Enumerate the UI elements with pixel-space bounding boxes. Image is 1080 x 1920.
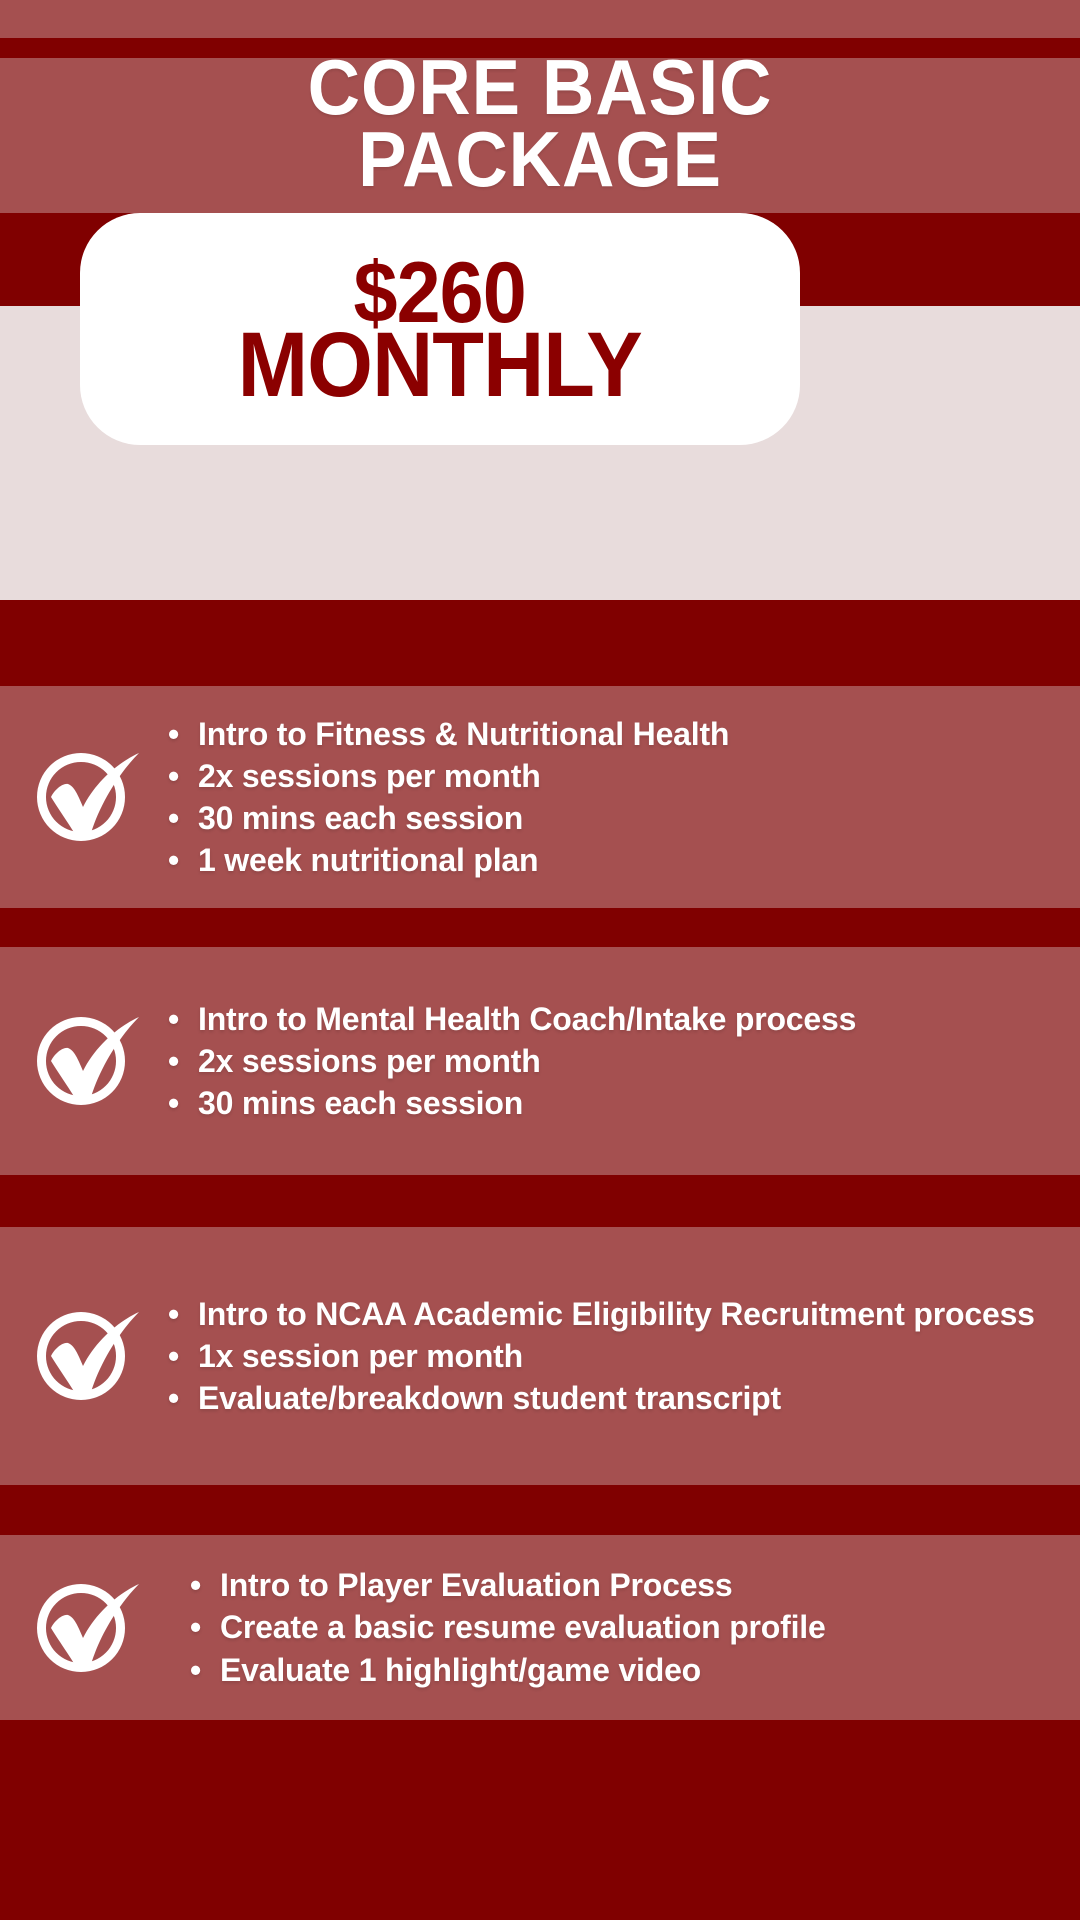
divider-band-3 — [0, 1485, 1080, 1535]
list-item: 30 mins each session — [168, 1082, 1060, 1124]
check-icon-column — [0, 1572, 168, 1684]
feature-block: Intro to NCAA Academic Eligibility Recru… — [0, 1227, 1080, 1485]
list-item: 2x sessions per month — [168, 755, 1060, 797]
price-period: MONTHLY — [238, 325, 642, 406]
pricing-poster: CORE BASIC PACKAGE $260 MONTHLY Intro to… — [0, 0, 1080, 1920]
top-muted-strip — [0, 0, 1080, 38]
check-icon-column — [0, 741, 168, 853]
list-item: Evaluate/breakdown student transcript — [168, 1377, 1060, 1419]
list-item: Intro to Player Evaluation Process — [190, 1564, 1060, 1606]
list-item: 1 week nutritional plan — [168, 839, 1060, 881]
price-card: $260 MONTHLY — [80, 213, 800, 445]
page-title: CORE BASIC PACKAGE — [38, 52, 1042, 196]
divider-band-0 — [0, 600, 1080, 686]
feature-bullet-list: Intro to NCAA Academic Eligibility Recru… — [168, 1293, 1080, 1420]
check-circle-icon — [25, 1572, 143, 1684]
bottom-band — [0, 1720, 1080, 1920]
list-item: Intro to Fitness & Nutritional Health — [168, 713, 1060, 755]
list-item: Intro to NCAA Academic Eligibility Recru… — [168, 1293, 1060, 1335]
list-item: Intro to Mental Health Coach/Intake proc… — [168, 998, 1060, 1040]
list-item: 1x session per month — [168, 1335, 1060, 1377]
feature-bullet-list: Intro to Player Evaluation Process Creat… — [168, 1564, 1080, 1691]
list-item: 2x sessions per month — [168, 1040, 1060, 1082]
check-circle-icon — [25, 741, 143, 853]
list-item: Create a basic resume evaluation profile — [190, 1606, 1060, 1648]
check-circle-icon — [25, 1300, 143, 1412]
divider-band-2 — [0, 1175, 1080, 1227]
divider-band-1 — [0, 908, 1080, 947]
feature-bullet-list: Intro to Mental Health Coach/Intake proc… — [168, 998, 1080, 1125]
list-item: Evaluate 1 highlight/game video — [190, 1649, 1060, 1691]
feature-block: Intro to Fitness & Nutritional Health 2x… — [0, 686, 1080, 908]
list-item: 30 mins each session — [168, 797, 1060, 839]
feature-block: Intro to Player Evaluation Process Creat… — [0, 1535, 1080, 1720]
feature-block: Intro to Mental Health Coach/Intake proc… — [0, 947, 1080, 1175]
feature-bullet-list: Intro to Fitness & Nutritional Health 2x… — [168, 713, 1080, 882]
check-circle-icon — [25, 1005, 143, 1117]
check-icon-column — [0, 1005, 168, 1117]
check-icon-column — [0, 1300, 168, 1412]
